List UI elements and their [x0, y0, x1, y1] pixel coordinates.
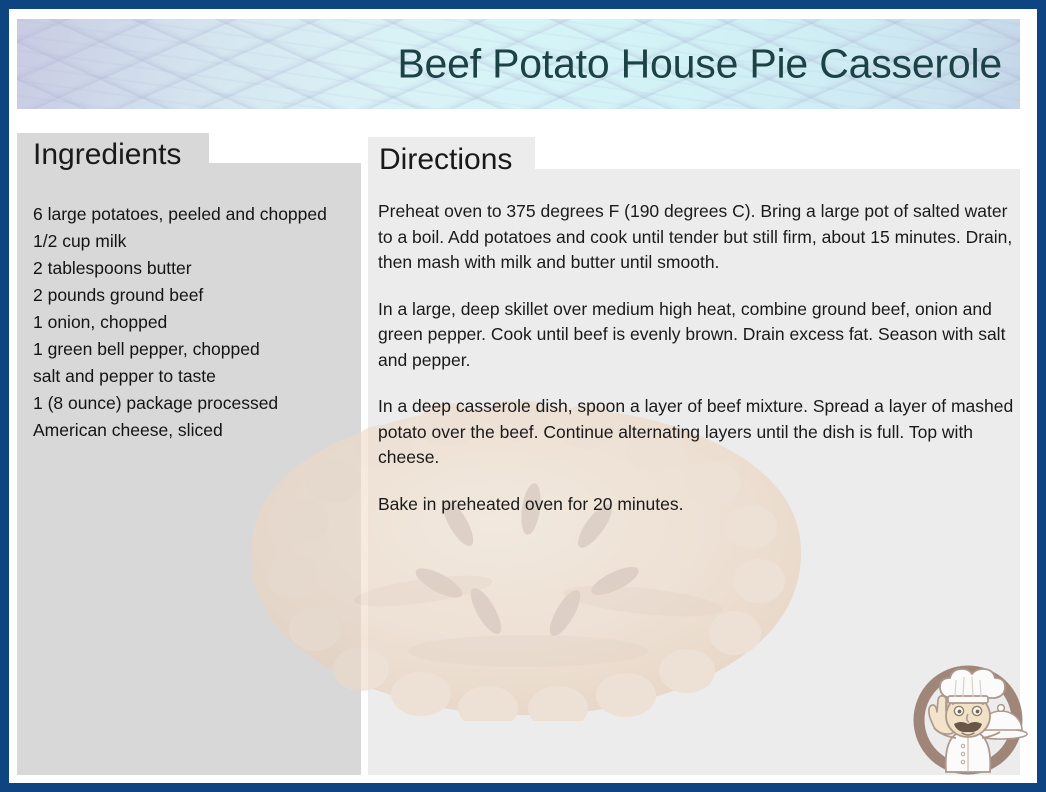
list-item: 1 (8 ounce) package processed American c…: [33, 390, 349, 444]
list-item: 6 large potatoes, peeled and chopped: [33, 201, 349, 228]
list-item: 2 pounds ground beef: [33, 282, 349, 309]
directions-steps: Preheat oven to 375 degrees F (190 degre…: [378, 199, 1023, 517]
ingredients-heading: Ingredients: [33, 138, 181, 172]
list-item: 1 green bell pepper, chopped: [33, 336, 349, 363]
list-item: 1 onion, chopped: [33, 309, 349, 336]
tab-ingredients[interactable]: Ingredients: [17, 133, 209, 177]
list-item: 2 tablespoons butter: [33, 255, 349, 282]
list-item: salt and pepper to taste: [33, 363, 349, 390]
recipe-card-frame: Beef Potato House Pie Casserole: [0, 0, 1046, 792]
recipe-card-inner: Beef Potato House Pie Casserole: [9, 9, 1037, 783]
direction-step: Preheat oven to 375 degrees F (190 degre…: [378, 199, 1023, 276]
ingredients-list: 6 large potatoes, peeled and chopped 1/2…: [33, 201, 349, 444]
direction-step: In a large, deep skillet over medium hig…: [378, 297, 1023, 374]
title-banner: Beef Potato House Pie Casserole: [17, 19, 1020, 109]
direction-step: Bake in preheated oven for 20 minutes.: [378, 492, 1023, 518]
chef-mascot-icon: [906, 654, 1030, 778]
direction-step: In a deep casserole dish, spoon a layer …: [378, 394, 1023, 471]
list-item: 1/2 cup milk: [33, 228, 349, 255]
page-title: Beef Potato House Pie Casserole: [397, 41, 1002, 88]
tab-directions[interactable]: Directions: [368, 137, 535, 182]
directions-heading: Directions: [379, 143, 512, 177]
